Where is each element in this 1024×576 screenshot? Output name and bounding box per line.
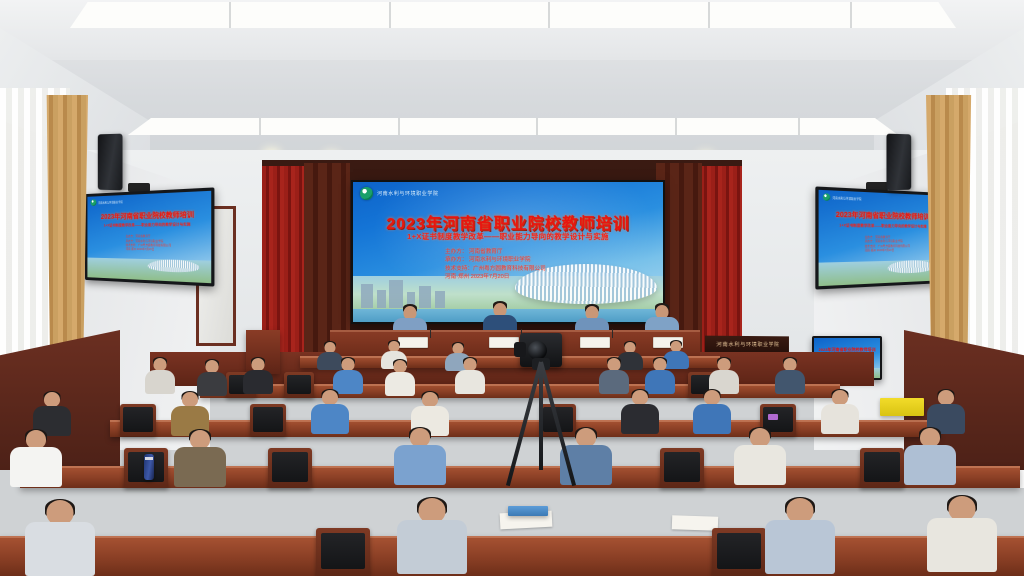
- screen-info-host: 主办方： 河南省教育厅: [445, 248, 546, 256]
- table-microphone: [612, 329, 613, 338]
- stage-curtain-left: [262, 166, 304, 356]
- conference-hall-photo: 河南水利与环境职业学院 2023年河南省职业院校教师培训 1+X证书制度教学改革…: [0, 0, 1024, 576]
- tv-left-subtitle: 1+X证书制度教学改革——职业能力导向的教学设计与实施: [87, 222, 211, 229]
- tv-right-title: 2023年河南省职业院校教师培训: [819, 209, 944, 222]
- institution-emblem-icon: [91, 199, 97, 206]
- screen-info-block: 主办方： 河南省教育厅 承办方： 河南水利与环境职业学院 技术支持：广州粤方圆教…: [445, 248, 546, 282]
- screen-institution-logo: 河南水利与环境职业学院: [360, 187, 439, 200]
- tv-right-info-place-date: 河南·郑州 2023年7月20日: [865, 249, 910, 254]
- tv-display-right: 河南水利与环境职业学院 2023年河南省职业院校教师培训 1+X证书制度教学改革…: [815, 186, 945, 289]
- institution-emblem-icon: [360, 187, 373, 200]
- institution-emblem-icon: [823, 193, 830, 201]
- audience-chair: [712, 528, 766, 576]
- tv-right-logo-text: 河南水利与环境职业学院: [832, 195, 861, 200]
- venue-wall-sign: 河南水利与环境职业学院: [705, 336, 789, 354]
- wall-speaker-right: [886, 134, 911, 191]
- audience-chair: [284, 372, 314, 398]
- tv-right-info: 主办方：河南省教育厅 承办方：河南水利与环境职业学院 技术支持：广州粤方圆教育科…: [865, 236, 910, 254]
- wall-speaker-left: [98, 134, 123, 191]
- tv-right-subtitle: 1+X证书制度教学改革——职业能力导向的教学设计与实施: [819, 223, 944, 230]
- screen-subtitle: 1+X证书制度教学改革——职业能力导向的教学设计与实施: [353, 231, 663, 242]
- audience-chair: [860, 448, 904, 488]
- audience-chair: [250, 404, 286, 436]
- screen-info-support: 技术支持：广州粤方圆教育科技有限公司: [445, 265, 546, 273]
- venue-wall-sign-text: 河南水利与环境职业学院: [716, 341, 779, 348]
- tv-left-title: 2023年河南省职业院校教师培训: [87, 209, 211, 222]
- phone: [768, 414, 778, 420]
- screen-logo-text: 河南水利与环境职业学院: [377, 190, 439, 197]
- water-bottle: [144, 454, 154, 480]
- ceiling-light-band-rear: [128, 118, 898, 135]
- tv-left-logo-text: 河南水利与环境职业学院: [98, 199, 123, 204]
- name-placard: [580, 337, 610, 348]
- table-microphone: [430, 329, 431, 338]
- screen-info-place-date: 河南·郑州 2023年7月20日: [445, 273, 546, 281]
- stage-curtain-right: [700, 166, 742, 356]
- audience-chair: [120, 404, 156, 436]
- main-led-screen: 河南水利与环境职业学院 2023年河南省职业院校教师培训 1+X证书制度教学改革…: [353, 182, 663, 322]
- audience-chair: [268, 448, 312, 488]
- document-folder: [508, 506, 548, 516]
- stage-wood-column-left: [304, 163, 350, 358]
- tv-left-info: 主办方：河南省教育厅 承办方：河南水利与环境职业学院 技术支持：广州粤方圆教育科…: [126, 235, 171, 253]
- audience-chair: [316, 528, 370, 576]
- tv-left-info-place-date: 河南·郑州 2023年7月20日: [126, 248, 171, 253]
- yellow-folder: [880, 398, 924, 416]
- name-placard: [398, 337, 428, 348]
- tripod-leg: [539, 362, 543, 470]
- audience-desk: [0, 536, 1024, 576]
- camera-tripod: [524, 362, 558, 492]
- tv-left-logo: 河南水利与环境职业学院: [91, 198, 123, 206]
- screen-info-organizer: 承办方： 河南水利与环境职业学院: [445, 256, 546, 264]
- audience-chair: [660, 448, 704, 488]
- tv-display-left: 河南水利与环境职业学院 2023年河南省职业院校教师培训 1+X证书制度教学改革…: [85, 187, 215, 286]
- ceiling-light-band-front: [70, 2, 956, 28]
- tv-right-logo: 河南水利与环境职业学院: [823, 193, 862, 202]
- document-paper: [672, 515, 718, 531]
